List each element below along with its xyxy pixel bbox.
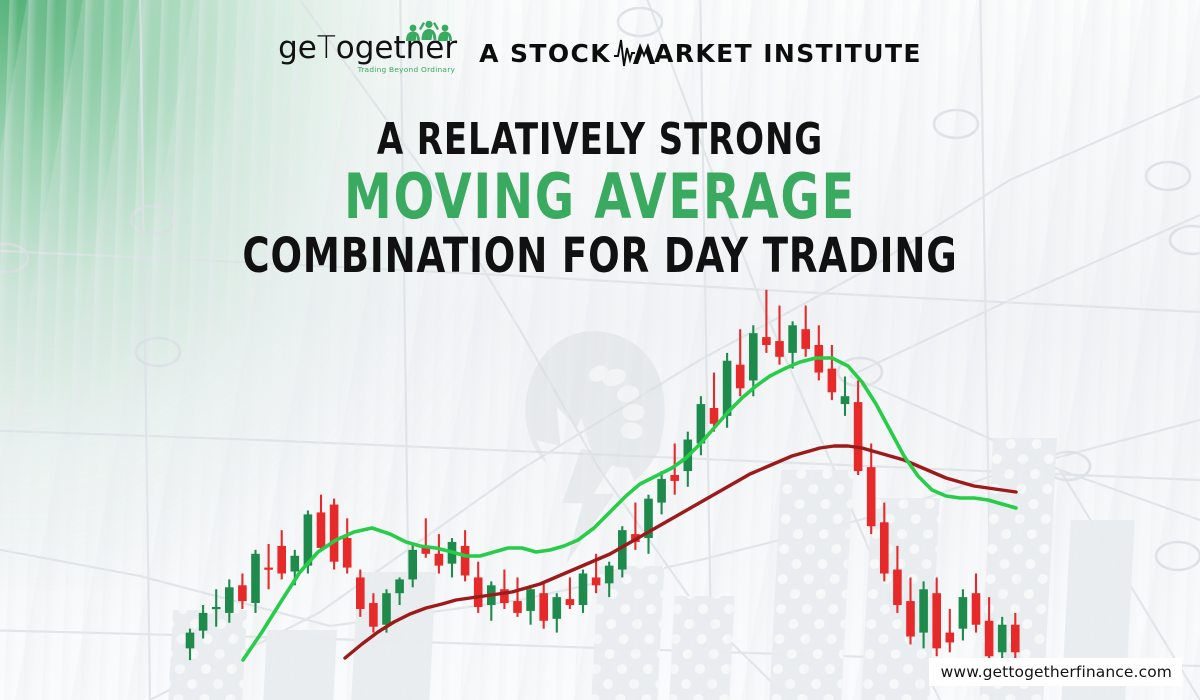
candle-body: [749, 333, 758, 380]
title-line-2-highlight: MOVING AVERAGE: [84, 166, 1116, 228]
candle-body: [670, 475, 679, 481]
fast-moving-average-line: [243, 358, 1016, 660]
candle-body: [854, 402, 863, 471]
candlestick-series: [186, 290, 1020, 668]
logo-tagline: Trading Beyond Ordinary: [358, 66, 456, 73]
candle-body: [186, 633, 195, 649]
candle-body: [225, 587, 234, 613]
candle-body: [356, 577, 365, 609]
candle-body: [880, 522, 889, 573]
candle-body: [395, 579, 404, 593]
candle-body: [238, 585, 247, 601]
website-url[interactable]: www.gettogetherfinance.com: [929, 658, 1182, 686]
candle-body: [959, 597, 968, 629]
candle-body: [382, 593, 391, 625]
candle-body: [919, 589, 928, 632]
institute-text-before: A STOCK: [479, 39, 611, 68]
candle-body: [526, 589, 535, 611]
candle-body: [408, 550, 417, 580]
candle-body: [998, 625, 1007, 653]
three-people-icon: [403, 20, 455, 42]
candle-body: [539, 593, 548, 621]
candle-body: [906, 601, 915, 636]
candle-body: [657, 479, 666, 503]
candle-body: [736, 365, 745, 389]
logo-word-prefix: ge: [278, 30, 317, 66]
candle-body: [788, 325, 797, 353]
candle-body: [605, 566, 614, 584]
gettogether-logo[interactable]: geTogether Trading Beyond Ordinary: [278, 33, 457, 73]
candle-body: [932, 593, 941, 648]
candle-body: [841, 396, 850, 404]
candle-body: [212, 607, 221, 609]
heartbeat-pulse-icon: [613, 36, 655, 70]
candle-body: [946, 633, 955, 643]
title-line-1: A RELATIVELY STRONG: [84, 118, 1116, 162]
candle-body: [317, 512, 326, 547]
candle-body: [762, 337, 771, 345]
candle-body: [1011, 625, 1020, 653]
candle-body: [277, 546, 286, 574]
candle-body: [579, 574, 588, 606]
poster-canvas: geTogether Trading Beyond Ordinary A STO…: [0, 0, 1200, 700]
candlestick-chart: [0, 0, 1200, 700]
header-brand-bar: geTogether Trading Beyond Ordinary A STO…: [0, 33, 1200, 73]
candle-body: [566, 599, 575, 605]
candle-body: [251, 554, 260, 603]
candle-body: [461, 546, 470, 576]
candle-body: [828, 369, 837, 393]
candle-body: [985, 621, 994, 656]
candle-body: [343, 538, 352, 568]
candle-body: [291, 556, 300, 572]
candle-body: [801, 329, 810, 349]
candle-body: [972, 593, 981, 625]
title-line-3: COMBINATION FOR DAY TRADING: [84, 232, 1116, 280]
candle-body: [199, 613, 208, 631]
candle-body: [592, 577, 601, 585]
candle-body: [369, 603, 378, 627]
candle-body: [330, 505, 339, 562]
logo-word-cap: T: [317, 30, 336, 66]
candle-body: [264, 568, 273, 570]
candle-body: [775, 341, 784, 357]
poster-title: A RELATIVELY STRONG MOVING AVERAGE COMBI…: [0, 118, 1200, 280]
institute-text-after: ARKET INSTITUTE: [654, 39, 922, 68]
candle-body: [474, 577, 483, 607]
candle-body: [867, 467, 876, 526]
candle-body: [513, 601, 522, 613]
candle-body: [435, 554, 444, 566]
institute-tagline: A STOCK ARKET INSTITUTE: [479, 36, 922, 70]
candle-body: [893, 570, 902, 605]
candle-body: [710, 408, 719, 424]
candle-body: [553, 597, 562, 619]
